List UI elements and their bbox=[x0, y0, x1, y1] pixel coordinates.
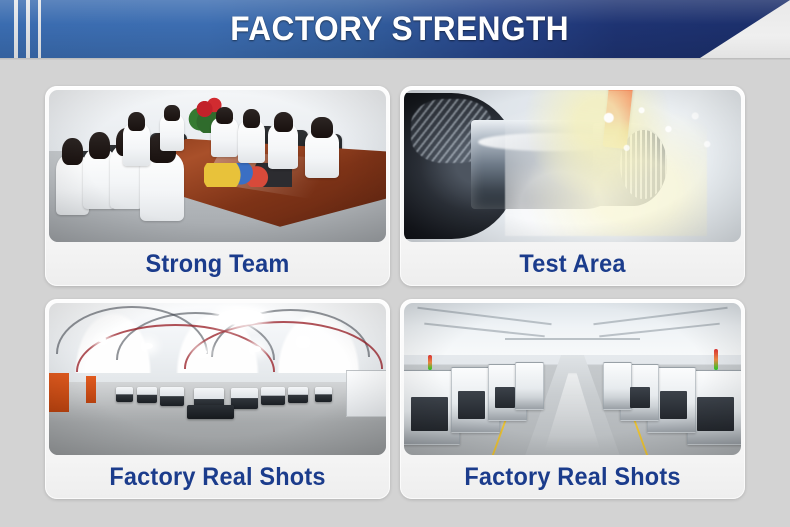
cnc-machine bbox=[116, 387, 133, 402]
banner-bottom-divider bbox=[0, 58, 790, 60]
ceiling-lamp bbox=[251, 346, 261, 352]
page-title: FACTORY STRENGTH bbox=[28, 0, 763, 58]
cnc-control-panel bbox=[458, 391, 485, 418]
card-test-area[interactable]: Test Area bbox=[400, 86, 745, 286]
person bbox=[160, 114, 184, 150]
cnc-machine bbox=[315, 387, 332, 402]
signal-tower-light bbox=[714, 349, 718, 370]
person bbox=[211, 117, 238, 157]
ceiling-lamp bbox=[197, 349, 207, 355]
person bbox=[268, 123, 298, 169]
cnc-control-panel bbox=[660, 391, 687, 418]
cnc-control-panel bbox=[495, 387, 515, 408]
card-grid: Strong Team Test Area bbox=[45, 86, 745, 506]
cnc-machine-rows-photo bbox=[404, 303, 741, 455]
roof-beam bbox=[505, 338, 640, 340]
cnc-lathe-machining-photo bbox=[404, 90, 741, 242]
skylight bbox=[218, 309, 264, 325]
cnc-control-panel bbox=[630, 387, 650, 408]
header-banner: FACTORY STRENGTH bbox=[0, 0, 790, 60]
card-caption: Factory Real Shots bbox=[59, 455, 376, 499]
cnc-control-panel bbox=[411, 397, 448, 430]
factory-hall-wide-angle-photo bbox=[49, 303, 386, 455]
banner-stripe-1 bbox=[14, 0, 18, 58]
signal-tower-light bbox=[428, 355, 432, 370]
cnc-control-panel bbox=[697, 397, 734, 430]
machine-base bbox=[187, 405, 234, 419]
card-caption: Test Area bbox=[414, 242, 731, 286]
person bbox=[123, 123, 150, 166]
card-caption: Factory Real Shots bbox=[414, 455, 731, 499]
card-factory-real-shots-rows[interactable]: Factory Real Shots bbox=[400, 299, 745, 499]
coolant-droplets bbox=[579, 99, 727, 193]
card-factory-real-shots-hall[interactable]: Factory Real Shots bbox=[45, 299, 390, 499]
cnc-machine bbox=[137, 387, 157, 404]
orange-door bbox=[86, 376, 96, 403]
card-strong-team[interactable]: Strong Team bbox=[45, 86, 390, 286]
person bbox=[305, 130, 339, 179]
orange-door bbox=[49, 373, 69, 413]
ceiling-lamp bbox=[143, 343, 153, 349]
card-caption: Strong Team bbox=[59, 242, 376, 286]
factory-strength-page: FACTORY STRENGTH bbox=[0, 0, 790, 527]
cnc-machine bbox=[231, 388, 258, 409]
cnc-machine bbox=[160, 387, 184, 407]
person bbox=[238, 120, 265, 163]
cnc-machine bbox=[288, 387, 308, 404]
cnc-machine bbox=[515, 362, 544, 410]
wall-panel bbox=[346, 370, 386, 418]
meeting-room-team-photo bbox=[49, 90, 386, 242]
cnc-machine bbox=[603, 362, 632, 410]
cnc-machine bbox=[261, 387, 285, 405]
